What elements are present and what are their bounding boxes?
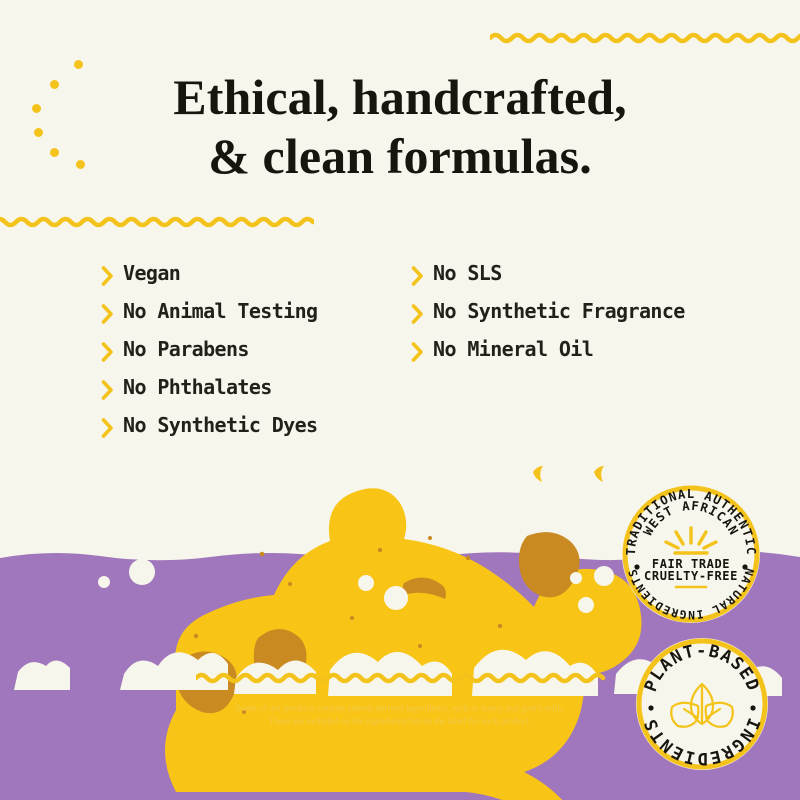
chevron-right-icon [410,339,426,365]
bubble [570,572,582,584]
hippo-speckle [288,582,292,586]
hippo-speckle [194,634,198,638]
bubble [594,566,614,586]
squiggle-decoration-bottom [196,670,606,686]
benefit-label: No Synthetic Fragrance [433,300,685,324]
list-item: No Synthetic Dyes [100,414,420,440]
chevron-right-icon [410,301,426,327]
bubble [384,586,408,610]
poster-canvas: Ethical, handcrafted, & clean formulas. … [0,0,800,800]
headline-line-1: Ethical, handcrafted, [0,68,800,127]
badge-dot [634,564,639,569]
page-title: Ethical, handcrafted, & clean formulas. [0,68,800,186]
benefit-label: No Mineral Oil [433,338,593,362]
chevron-right-icon [100,415,116,441]
squiggle-decoration-top [490,30,800,46]
sparkle-icon [533,466,543,482]
benefit-label: No Phthalates [123,376,272,400]
benefits-column-left: Vegan No Animal Testing No Parabens No P… [100,262,420,452]
benefit-label: Vegan [123,262,180,286]
squiggle-decoration-left [0,214,314,230]
hippo-speckle [260,552,265,557]
bubble [358,575,374,591]
list-item: Vegan [100,262,420,288]
bubble [98,576,110,588]
hippo-speckle [418,644,422,648]
list-item: No Synthetic Fragrance [410,300,700,326]
badge-dot [750,705,755,710]
chevron-right-icon [410,263,426,289]
benefits-section: Vegan No Animal Testing No Parabens No P… [0,262,800,452]
hippo-speckle [498,624,502,628]
bubble [578,597,594,613]
list-item: No SLS [410,262,700,288]
list-item: No Mineral Oil [410,338,700,364]
hippo-speckle [378,548,382,552]
chevron-right-icon [100,263,116,289]
list-item: No Phthalates [100,376,420,402]
benefit-label: No SLS [433,262,502,286]
headline-line-2: & clean formulas. [0,127,800,186]
hippo-speckle [554,580,558,584]
chevron-right-icon [100,301,116,327]
benefit-label: No Parabens [123,338,249,362]
badge-dot [742,564,747,569]
benefit-label: No Animal Testing [123,300,318,324]
hippo-speckle [350,616,354,620]
chevron-right-icon [100,377,116,403]
badge-plant-based: PLANT-BASED INGREDIENTS [634,636,770,772]
list-item: No Animal Testing [100,300,420,326]
list-item: No Parabens [100,338,420,364]
badge-center-line-2: CRUELTY-FREE [644,569,738,583]
badge-traditional-authentic: TRADITIONAL AUTHENTIC WEST AFRICAN NATUR… [620,483,762,625]
hippo-speckle [428,536,432,540]
bubble [129,559,155,585]
sparkle-icon [594,466,604,482]
hippo-speckle [466,556,470,560]
benefit-label: No Synthetic Dyes [123,414,318,438]
benefits-column-right: No SLS No Synthetic Fragrance No Mineral… [410,262,700,376]
badge-dot [648,705,653,710]
hippo-speckle [298,646,302,650]
chevron-right-icon [100,339,116,365]
